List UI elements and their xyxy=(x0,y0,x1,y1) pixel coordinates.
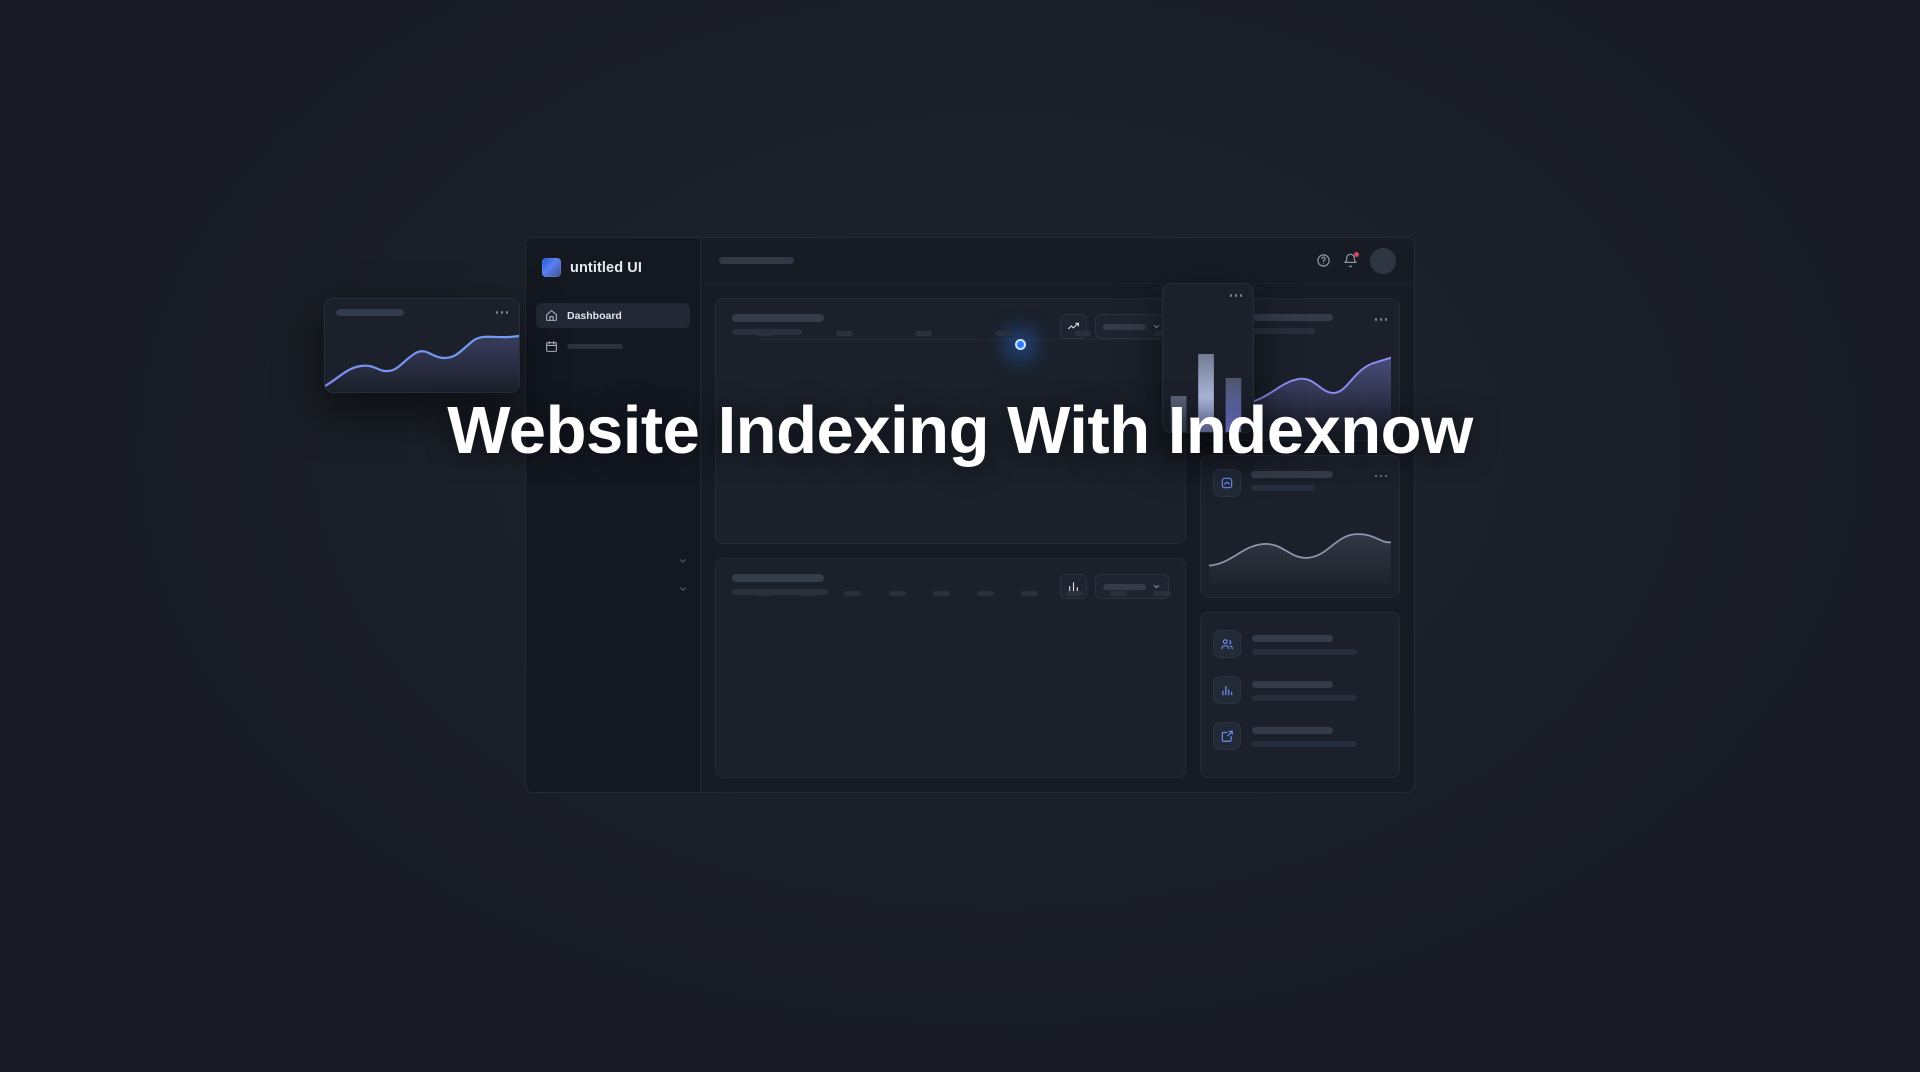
float-left-title-skeleton xyxy=(336,309,404,316)
list-item-text xyxy=(1252,725,1387,747)
brand[interactable]: untitled UI xyxy=(536,254,690,277)
sidebar-collapse-chevron-2[interactable] xyxy=(678,584,688,594)
panels xyxy=(701,284,1414,792)
logo-mark-icon xyxy=(542,258,561,277)
chart-breakout-icon xyxy=(1213,469,1241,497)
list-item-text xyxy=(1252,679,1387,701)
bar-chart-y-axis xyxy=(730,599,752,623)
x-tick xyxy=(915,331,932,336)
sidebar-nav: Dashboard xyxy=(536,303,690,359)
range-select-value-skeleton xyxy=(1103,584,1146,590)
x-tick xyxy=(933,591,950,596)
dashboard-window: untitled UI Dashboard xyxy=(525,237,1415,793)
float-left-line-card xyxy=(324,298,520,393)
side-card-1-text xyxy=(1251,312,1365,334)
notification-badge xyxy=(1354,252,1359,257)
subtitle-skeleton xyxy=(1252,649,1357,655)
list-item[interactable] xyxy=(1201,713,1399,759)
sidebar: untitled UI Dashboard xyxy=(526,238,701,792)
sidebar-item-dashboard[interactable]: Dashboard xyxy=(536,303,690,328)
main-column xyxy=(715,298,1186,778)
subtitle-skeleton xyxy=(1252,741,1357,747)
line-chart-x-axis xyxy=(756,331,1171,337)
edit-square-icon xyxy=(1213,722,1241,750)
x-tick xyxy=(1066,591,1083,596)
x-tick xyxy=(756,591,773,596)
range-select-value-skeleton xyxy=(1103,324,1146,330)
chevron-down-icon xyxy=(1152,322,1161,331)
avatar[interactable] xyxy=(1370,248,1396,274)
sidebar-item-label-skeleton xyxy=(567,344,623,349)
list-item-text xyxy=(1252,633,1387,655)
x-tick xyxy=(756,331,773,336)
kebab-menu-icon[interactable] xyxy=(1375,312,1388,321)
x-tick xyxy=(1110,591,1127,596)
list-item[interactable] xyxy=(1201,667,1399,713)
bar-chart-icon xyxy=(1213,676,1241,704)
kebab-menu-icon[interactable] xyxy=(496,311,509,314)
line-chart-y-axis xyxy=(730,339,752,363)
side-list-card xyxy=(1200,612,1400,778)
topbar xyxy=(701,238,1414,284)
bar-chart-card xyxy=(715,558,1186,778)
side-card-2 xyxy=(1200,455,1400,598)
subtitle-skeleton xyxy=(1251,485,1315,491)
page-title: Website Indexing With Indexnow xyxy=(0,392,1920,469)
brand-name: untitled UI xyxy=(570,260,642,276)
bell-icon[interactable] xyxy=(1343,253,1358,268)
bar-card-title-skeleton xyxy=(732,574,824,582)
users-icon xyxy=(1213,630,1241,658)
list-item[interactable] xyxy=(1201,621,1399,667)
sidebar-item-label: Dashboard xyxy=(567,310,622,322)
bar-chart-x-axis xyxy=(756,591,1171,597)
title-skeleton xyxy=(1252,727,1333,734)
main-content xyxy=(701,238,1414,792)
x-tick xyxy=(1074,331,1091,336)
line-card-title-skeleton xyxy=(732,314,824,322)
page-root: untitled UI Dashboard xyxy=(0,0,1920,1072)
x-tick xyxy=(844,591,861,596)
side-card-2-text xyxy=(1251,469,1365,491)
x-tick xyxy=(800,591,817,596)
line-chart-highlight-point[interactable] xyxy=(1015,339,1026,350)
subtitle-skeleton xyxy=(1251,328,1315,334)
side-area-chart-2 xyxy=(1209,503,1391,591)
float-right-header xyxy=(1163,284,1253,297)
subtitle-skeleton xyxy=(1252,695,1357,701)
x-tick xyxy=(836,331,853,336)
gridline xyxy=(756,339,1171,340)
x-tick xyxy=(889,591,906,596)
title-skeleton xyxy=(1252,635,1333,642)
float-left-header xyxy=(325,299,519,316)
calendar-icon xyxy=(545,340,558,353)
home-icon xyxy=(545,309,558,322)
kebab-menu-icon[interactable] xyxy=(1230,294,1243,297)
title-skeleton xyxy=(1251,471,1333,478)
x-tick xyxy=(995,331,1012,336)
title-skeleton xyxy=(1252,681,1333,688)
title-skeleton xyxy=(1251,314,1333,321)
x-tick xyxy=(1154,591,1171,596)
x-tick xyxy=(977,591,994,596)
float-left-line-chart xyxy=(325,328,519,392)
topbar-actions xyxy=(1316,248,1396,274)
help-circle-icon[interactable] xyxy=(1316,253,1331,268)
x-tick xyxy=(1021,591,1038,596)
breadcrumb[interactable] xyxy=(719,257,794,264)
sidebar-item-calendar[interactable] xyxy=(536,334,690,359)
kebab-menu-icon[interactable] xyxy=(1375,469,1388,478)
chevron-down-icon xyxy=(1152,582,1161,591)
sidebar-collapse-chevron-1[interactable] xyxy=(678,556,688,566)
